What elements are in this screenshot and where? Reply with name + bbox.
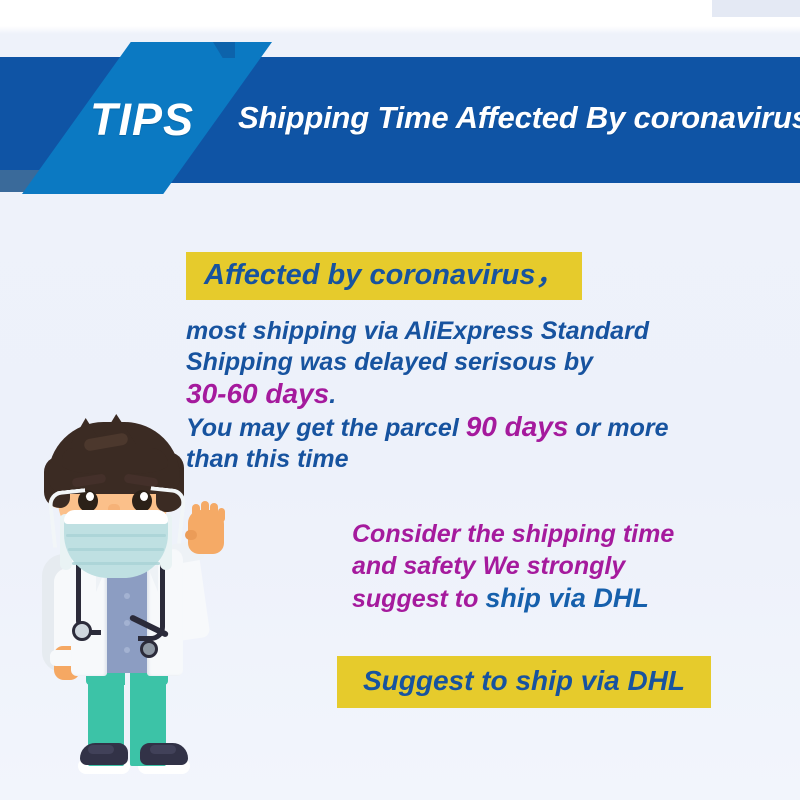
finger-2 (201, 501, 209, 520)
face-mask-pleat-1 (66, 534, 166, 537)
tips-badge-label: TIPS (62, 96, 222, 144)
parcel-days-value: 90 days (466, 411, 569, 442)
consider-line-2: and safety We strongly (352, 552, 625, 580)
finger-1 (192, 504, 200, 520)
consider-line-3-prefix: suggest to (352, 585, 485, 613)
doctor-illustration (10, 418, 260, 796)
shoe-left-highlight (88, 745, 114, 754)
delay-line-2: Shipping was delayed serisous by (186, 348, 593, 376)
face-mask-top-band (64, 510, 168, 524)
ship-via-dhl-emphasis: ship via DHL (485, 583, 649, 613)
banner: TIPS Shipping Time Affected By coronavir… (0, 0, 800, 230)
delay-period: . (329, 381, 336, 409)
parcel-suffix: or more (568, 414, 668, 442)
eye-right-highlight (140, 492, 148, 501)
shoe-right-highlight (150, 745, 176, 754)
delay-line-1: most shipping via AliExpress Standard (186, 317, 649, 345)
shirt-button-2 (124, 620, 130, 626)
stethoscope-chestpiece-right (140, 640, 158, 658)
hair-fringe (62, 448, 168, 474)
face-mask-pleat-3 (72, 562, 160, 565)
stethoscope-chestpiece-left (72, 621, 92, 641)
shipping-delay-paragraph: most shipping via AliExpress Standard Sh… (186, 316, 746, 475)
consider-line-1: Consider the shipping time (352, 520, 674, 548)
face-mask-pleat-2 (68, 548, 164, 551)
promo-page: TIPS Shipping Time Affected By coronavir… (0, 0, 800, 800)
thumb-right (185, 530, 197, 540)
finger-3 (210, 503, 218, 520)
suggest-ship-via-dhl-chip: Suggest to ship via DHL (337, 656, 711, 708)
finger-4 (218, 508, 225, 522)
banner-title: Shipping Time Affected By coronavirus (238, 99, 783, 137)
delay-days-value: 30-60 days (186, 378, 329, 409)
shirt-button-3 (124, 647, 130, 653)
shirt-button-1 (124, 593, 130, 599)
affected-by-coronavirus-chip: Affected by coronavirus， (186, 252, 582, 300)
consider-shipping-paragraph: Consider the shipping time and safety We… (352, 518, 752, 615)
eye-left-highlight (86, 492, 94, 501)
